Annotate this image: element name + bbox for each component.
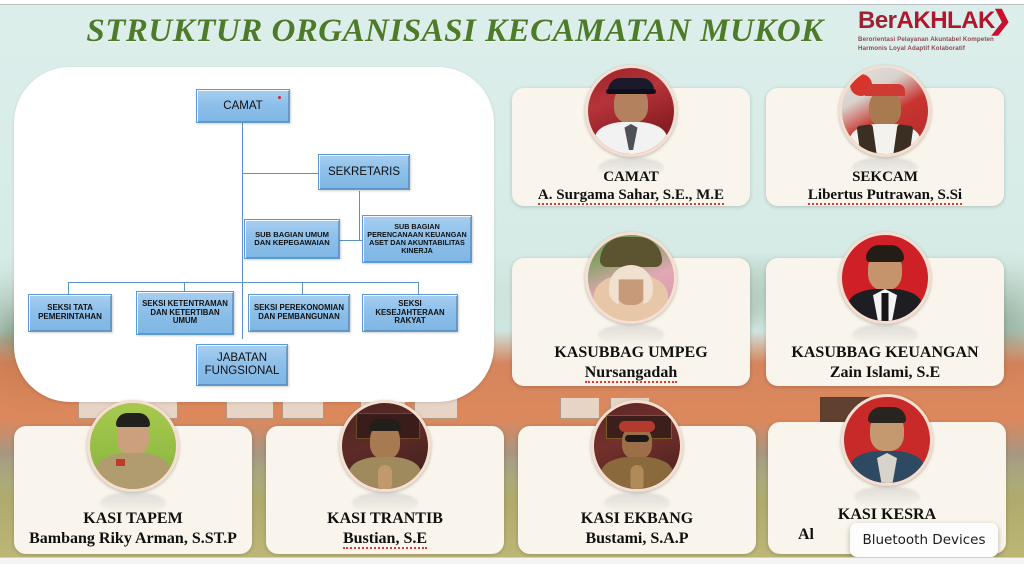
person-name: A. Surgama Sahar, S.E., M.E: [512, 187, 750, 204]
person-name-text: Nursangadah: [585, 364, 677, 383]
avatar-reflection: [852, 324, 918, 346]
avatar-camat: [585, 65, 677, 157]
avatar-kasubbag-keuangan: [839, 232, 931, 324]
org-node-label: SUB BAGIAN UMUM DAN KEPEGAWAIAN: [248, 231, 336, 248]
screen: STRUKTUR ORGANISASI KECAMATAN MUKOK ❯ Be…: [0, 0, 1024, 571]
avatar-kasi-trantib: [339, 400, 431, 492]
person-role: KASI EKBANG: [518, 510, 756, 528]
person-name-text: Zain Islami, S.E: [830, 364, 940, 381]
person-name-text: A. Surgama Sahar, S.E., M.E: [538, 187, 724, 205]
page-title: STRUKTUR ORGANISASI KECAMATAN MUKOK: [70, 13, 840, 50]
org-node-seksi-kesejahteraan[interactable]: SEKSI KESEJAHTERAAN RAKYAT: [362, 294, 458, 332]
org-node-seksi-tata-pemerintahan[interactable]: SEKSI TATA PEMERINTAHAN: [28, 294, 112, 332]
person-role: KASI TAPEM: [14, 510, 252, 528]
org-node-sekretaris[interactable]: SEKRETARIS: [318, 154, 410, 190]
connector-seksi-row: [68, 282, 418, 283]
logo-word-suffix: AKHLAK: [897, 7, 995, 34]
org-node-seksi-ketentraman[interactable]: SEKSI KETENTRAMAN DAN KETERTIBAN UMUM: [136, 291, 234, 335]
person-card-kasubbag-umpeg[interactable]: KASUBBAG UMPEG Nursangadah: [512, 258, 750, 386]
person-card-kasi-trantib[interactable]: KASI TRANTIB Bustian, S.E: [266, 426, 504, 554]
person-role: KASI KESRA: [768, 506, 1006, 524]
logo-tagline: Berorientasi Pelayanan Akuntabel Kompete…: [858, 36, 1010, 54]
avatar-kasubbag-umpeg: [585, 232, 677, 324]
avatar-kasi-ekbang: [591, 400, 683, 492]
connector-camat-trunk: [242, 117, 243, 339]
org-node-camat[interactable]: CAMAT: [196, 89, 290, 123]
connector-sekretaris-down: [359, 191, 360, 241]
person-name-text: Bustian, S.E: [343, 530, 427, 549]
person-card-camat[interactable]: CAMAT A. Surgama Sahar, S.E., M.E: [512, 88, 750, 206]
person-name: Nursangadah: [512, 364, 750, 382]
avatar-image: [842, 235, 928, 321]
person-name: Bambang Riky Arman, S.ST.P: [14, 530, 252, 548]
red-dot-marker: [278, 96, 281, 99]
avatar-reflection: [598, 324, 664, 346]
person-name-text: Al: [798, 526, 814, 543]
person-role: KASUBBAG KEUANGAN: [766, 344, 1004, 362]
person-role: SEKCAM: [766, 169, 1004, 186]
person-card-kasubbag-keuangan[interactable]: KASUBBAG KEUANGAN Zain Islami, S.E: [766, 258, 1004, 386]
person-card-sekcam[interactable]: SEKCAM Libertus Putrawan, S.Si: [766, 88, 1004, 206]
tooltip-label: Bluetooth Devices: [862, 532, 985, 548]
berakhlak-logo: ❯ BerAKHLAK Berorientasi Pelayanan Akunt…: [858, 9, 1010, 63]
person-name-text: Libertus Putrawan, S.Si: [808, 187, 962, 205]
logo-word-prefix: Ber: [858, 7, 897, 34]
avatar-image: [844, 397, 930, 483]
org-node-jabatan-fungsional[interactable]: JABATAN FUNGSIONAL: [196, 344, 288, 386]
connector-seksi-3: [302, 282, 303, 294]
person-name: Bustami, S.A.P: [518, 530, 756, 548]
person-name: Zain Islami, S.E: [766, 364, 1004, 382]
connector-seksi-1: [68, 282, 69, 294]
org-chart-panel: CAMAT SEKRETARIS SUB BAGIAN UMUM DAN KEP…: [14, 67, 494, 402]
avatar-reflection: [854, 486, 920, 508]
connector-seksi-4: [418, 282, 419, 294]
org-node-subbag-perencanaan[interactable]: SUB BAGIAN PERENCANAAN KEUANGAN ASET DAN…: [362, 215, 472, 263]
avatar-image: [588, 68, 674, 154]
org-node-label: SUB BAGIAN PERENCANAAN KEUANGAN ASET DAN…: [366, 223, 468, 255]
logo-tagline-line1: Berorientasi Pelayanan Akuntabel Kompete…: [858, 36, 1010, 45]
avatar-image: [90, 403, 176, 489]
org-node-label: SEKSI PEREKONOMIAN DAN PEMBANGUNAN: [252, 304, 346, 321]
person-role: KASI TRANTIB: [266, 510, 504, 528]
org-node-label: SEKSI TATA PEMERINTAHAN: [32, 304, 108, 322]
person-role: KASUBBAG UMPEG: [512, 344, 750, 362]
swoosh-icon: ❯: [988, 9, 1012, 35]
avatar-kasi-tapem: [87, 400, 179, 492]
org-node-seksi-perekonomian[interactable]: SEKSI PEREKONOMIAN DAN PEMBANGUNAN: [248, 294, 350, 332]
org-node-subbag-umum[interactable]: SUB BAGIAN UMUM DAN KEPEGAWAIAN: [244, 219, 340, 259]
logo-wordmark: BerAKHLAK: [858, 9, 1010, 33]
avatar-image: [588, 235, 674, 321]
bottom-strip: [0, 557, 1024, 564]
org-node-label: SEKSI KETENTRAMAN DAN KETERTIBAN UMUM: [140, 300, 230, 326]
org-node-label: SEKSI KESEJAHTERAAN RAKYAT: [366, 300, 454, 326]
person-name-text: Bustami, S.A.P: [585, 530, 688, 547]
avatar-image: [342, 403, 428, 489]
person-name: Libertus Putrawan, S.Si: [766, 187, 1004, 204]
avatar-sekcam: [839, 65, 931, 157]
org-node-label: SEKRETARIS: [328, 166, 400, 179]
person-name-text: Bambang Riky Arman, S.ST.P: [29, 530, 237, 547]
org-node-label: JABATAN FUNGSIONAL: [200, 352, 284, 378]
person-card-kasi-ekbang[interactable]: KASI EKBANG Bustami, S.A.P: [518, 426, 756, 554]
presentation-slide: STRUKTUR ORGANISASI KECAMATAN MUKOK ❯ Be…: [0, 4, 1024, 564]
avatar-image: [842, 68, 928, 154]
org-node-label: CAMAT: [223, 100, 262, 113]
avatar-kasi-kesra: [841, 394, 933, 486]
avatar-image: [594, 403, 680, 489]
person-name: Bustian, S.E: [266, 530, 504, 548]
logo-tagline-line2: Harmonis Loyal Adaptif Kolaboratif: [858, 45, 1010, 54]
person-role: CAMAT: [512, 169, 750, 186]
person-card-kasi-tapem[interactable]: KASI TAPEM Bambang Riky Arman, S.ST.P: [14, 426, 252, 554]
bluetooth-devices-tooltip[interactable]: Bluetooth Devices: [850, 523, 998, 557]
